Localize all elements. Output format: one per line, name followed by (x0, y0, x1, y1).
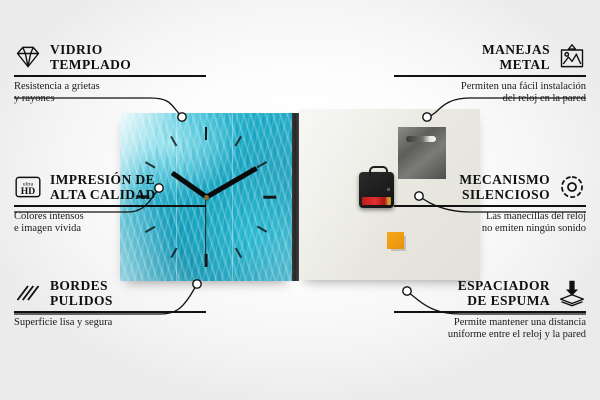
svg-text:HD: HD (21, 186, 35, 197)
feature-divider (14, 205, 206, 207)
feature-header: ultra HD IMPRESIÓN DE ALTA CALIDAD (14, 172, 206, 202)
diamond-icon (14, 43, 42, 71)
arrow-down-layers-icon (558, 279, 586, 307)
quartz-mechanism (359, 172, 394, 208)
feature-description: Las manecillas del reloj no emiten ningú… (394, 211, 586, 236)
feature-description: Permiten una fácil instalación del reloj… (394, 81, 586, 106)
minute-hand (205, 166, 257, 199)
clock-glass-edge (292, 113, 299, 281)
hanging-frame-icon (558, 43, 586, 71)
feature-description: Colores intensos e imagen vívida (14, 211, 206, 236)
hanger-slot (406, 136, 436, 142)
feature-impresion-alta-calidad: ultra HD IMPRESIÓN DE ALTA CALIDAD Color… (14, 172, 206, 236)
feature-divider (394, 75, 586, 77)
gear-icon (558, 173, 586, 201)
feature-header: BORDES PULIDOS (14, 278, 206, 308)
feature-divider (394, 311, 586, 313)
feature-divider (14, 75, 206, 77)
clock-tick (205, 127, 208, 140)
feature-header: VIDRIO TEMPLADO (14, 42, 206, 72)
battery (362, 197, 391, 205)
feature-header: MANEJAS METAL (394, 42, 586, 72)
feature-title: IMPRESIÓN DE ALTA CALIDAD (50, 172, 156, 202)
clock-tick (257, 161, 268, 168)
feature-bordes-pulidos: BORDES PULIDOS Superficie lisa y segura (14, 278, 206, 329)
mechanism-loop (369, 166, 388, 177)
feature-header: ESPACIADOR DE ESPUMA (394, 278, 586, 308)
ultra-hd-icon: ultra HD (14, 173, 42, 201)
feature-title: MECANISMO SILENCIOSO (459, 172, 550, 202)
clock-tick (263, 196, 276, 199)
feature-title: ESPACIADOR DE ESPUMA (458, 278, 550, 308)
feature-mecanismo-silencioso: MECANISMO SILENCIOSO Las manecillas del … (394, 172, 586, 236)
diagonal-lines-icon (14, 279, 42, 307)
feature-title: VIDRIO TEMPLADO (50, 42, 131, 72)
mechanism-screw (387, 188, 390, 191)
product-infographic: VIDRIO TEMPLADO Resistencia a grietas y … (0, 0, 600, 400)
feature-header: MECANISMO SILENCIOSO (394, 172, 586, 202)
feature-description: Superficie lisa y segura (14, 317, 206, 330)
clock-tick (235, 136, 242, 147)
feature-vidrio-templado: VIDRIO TEMPLADO Resistencia a grietas y … (14, 42, 206, 106)
feature-description: Permite mantener una distancia uniforme … (394, 317, 586, 342)
clock-tick (170, 136, 177, 147)
clock-tick (257, 226, 268, 233)
feature-manejas-metal: MANEJAS METAL Permiten una fácil instala… (394, 42, 586, 106)
feature-title: BORDES PULIDOS (50, 278, 113, 308)
feature-divider (394, 205, 586, 207)
feature-divider (14, 311, 206, 313)
feature-description: Resistencia a grietas y rayones (14, 81, 206, 106)
clock-tick (145, 161, 156, 168)
feature-espaciador-espuma: ESPACIADOR DE ESPUMA Permite mantener un… (394, 278, 586, 342)
feature-title: MANEJAS METAL (482, 42, 550, 72)
clock-tick (170, 248, 177, 259)
clock-tick (235, 248, 242, 259)
